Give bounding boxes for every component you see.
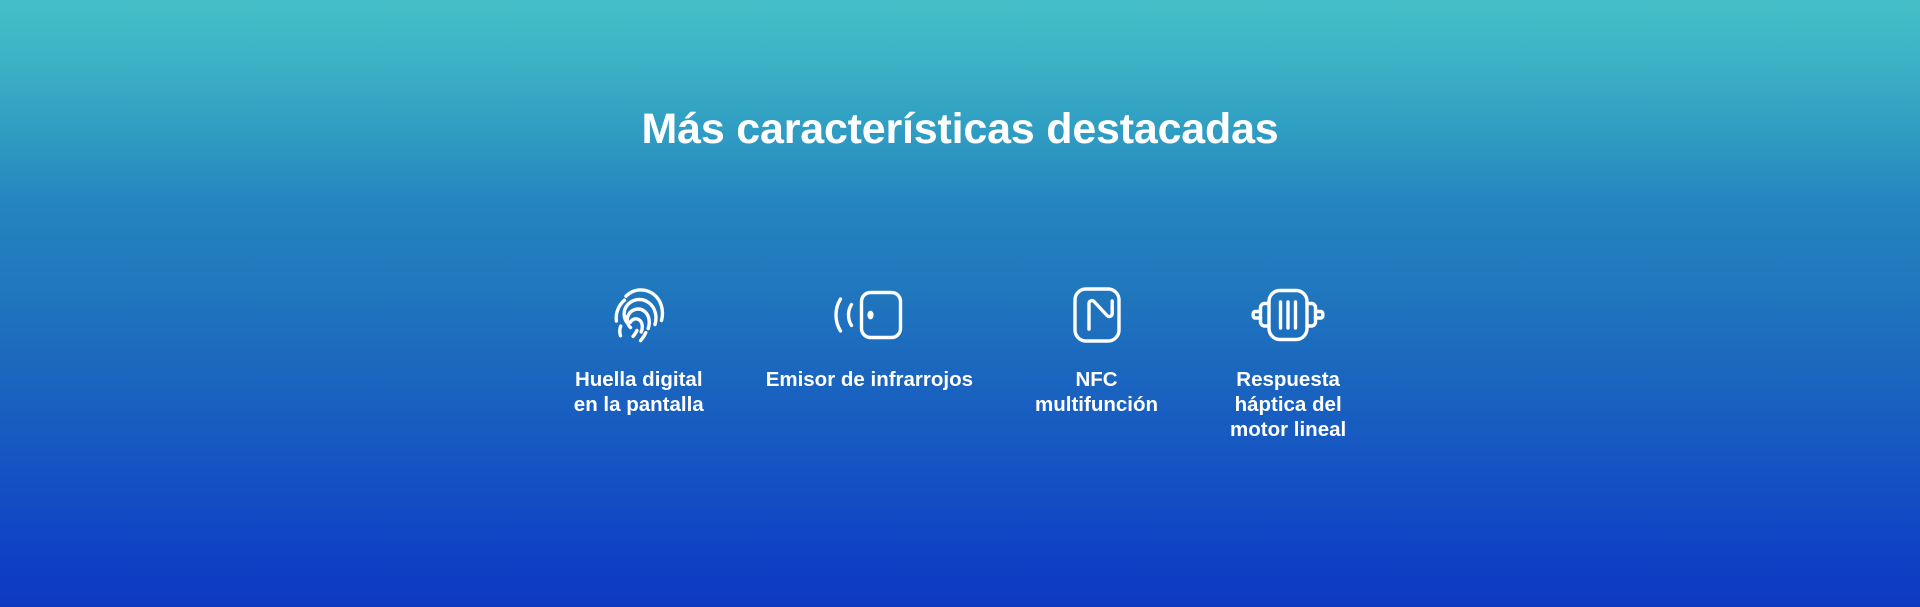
page-title: Más características destacadas: [0, 106, 1920, 153]
infrared-emitter-icon: [831, 284, 907, 346]
fingerprint-icon: [601, 284, 677, 346]
feature-label: Respuesta háptica del motor lineal: [1230, 367, 1346, 443]
feature-label: NFC multifunción: [1035, 367, 1158, 417]
feature-item-nfc[interactable]: NFC multifunción: [1035, 284, 1158, 417]
feature-highlights-banner: Más características destacadas Huella di…: [0, 0, 1920, 607]
feature-list: Huella digital en la pantalla Emisor de …: [0, 284, 1920, 443]
nfc-icon: [1059, 284, 1135, 346]
feature-label: Emisor de infrarrojos: [766, 367, 973, 392]
feature-item-infrared-emitter[interactable]: Emisor de infrarrojos: [766, 284, 973, 392]
feature-label: Huella digital en la pantalla: [574, 367, 704, 417]
feature-item-fingerprint[interactable]: Huella digital en la pantalla: [574, 284, 704, 417]
linear-motor-icon: [1250, 284, 1326, 346]
feature-item-linear-motor[interactable]: Respuesta háptica del motor lineal: [1230, 284, 1346, 443]
